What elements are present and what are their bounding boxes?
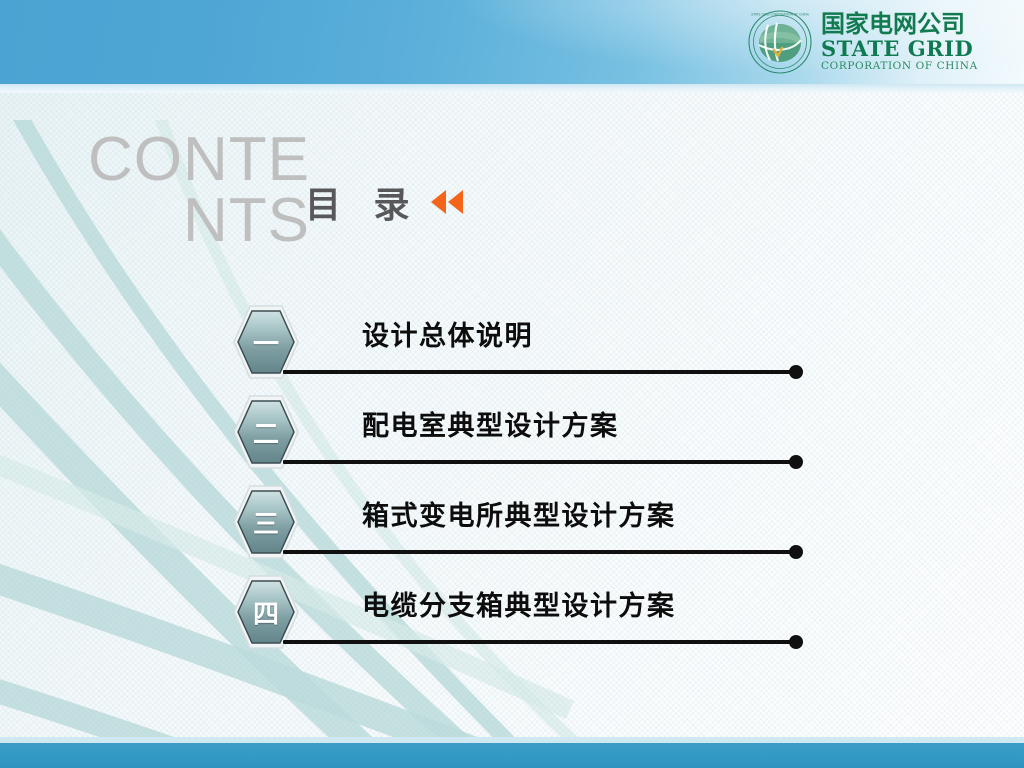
hexagon-badge[interactable]: 三	[232, 484, 300, 560]
list-item-label: 配电室典型设计方案	[362, 404, 619, 443]
list-item-3[interactable]: 三 箱式变电所典型设计方案	[0, 480, 1024, 570]
list-item-label: 设计总体说明	[362, 314, 533, 353]
list-item-label: 电缆分支箱典型设计方案	[362, 584, 676, 623]
list-item-rule	[283, 460, 795, 464]
presentation-slide: STATE GRID CORPORATION OF CHINA 国家电网公司 S…	[0, 0, 1024, 768]
list-item-rule	[283, 370, 795, 374]
list-item-end-dot	[789, 635, 803, 649]
slide-footer-band	[0, 743, 1024, 768]
list-item-end-dot	[789, 365, 803, 379]
list-item-label: 箱式变电所典型设计方案	[362, 494, 676, 533]
hexagon-badge[interactable]: 四	[232, 574, 300, 650]
state-grid-globe-icon: STATE GRID CORPORATION OF CHINA	[748, 10, 812, 74]
svg-text:STATE GRID CORPORATION OF CHIN: STATE GRID CORPORATION OF CHINA	[751, 12, 810, 16]
header-underline	[0, 84, 1024, 93]
list-item-1[interactable]: 一 设计总体说明	[0, 300, 1024, 390]
state-grid-logo: STATE GRID CORPORATION OF CHINA 国家电网公司 S…	[748, 6, 1016, 78]
list-item-2[interactable]: 二 配电室典型设计方案	[0, 390, 1024, 480]
page-title-english: CONTENTS	[80, 130, 310, 252]
fast-rewind-icon	[430, 189, 464, 215]
logo-name-en-primary: STATE GRID	[821, 38, 978, 59]
list-item-rule	[283, 550, 795, 554]
hexagon-badge[interactable]: 一	[232, 304, 300, 380]
contents-list: 一 设计总体说明 二 配电室典型设计方案	[0, 300, 1024, 660]
page-title-label: 目 录	[305, 176, 420, 228]
logo-name-cn: 国家电网公司	[821, 12, 978, 36]
list-item-rule	[283, 640, 795, 644]
page-title: 目 录	[305, 176, 464, 228]
list-item-4[interactable]: 四 电缆分支箱典型设计方案	[0, 570, 1024, 660]
list-item-end-dot	[789, 455, 803, 469]
logo-name-en-secondary: CORPORATION OF CHINA	[821, 61, 978, 72]
list-item-end-dot	[789, 545, 803, 559]
hexagon-badge[interactable]: 二	[232, 394, 300, 470]
